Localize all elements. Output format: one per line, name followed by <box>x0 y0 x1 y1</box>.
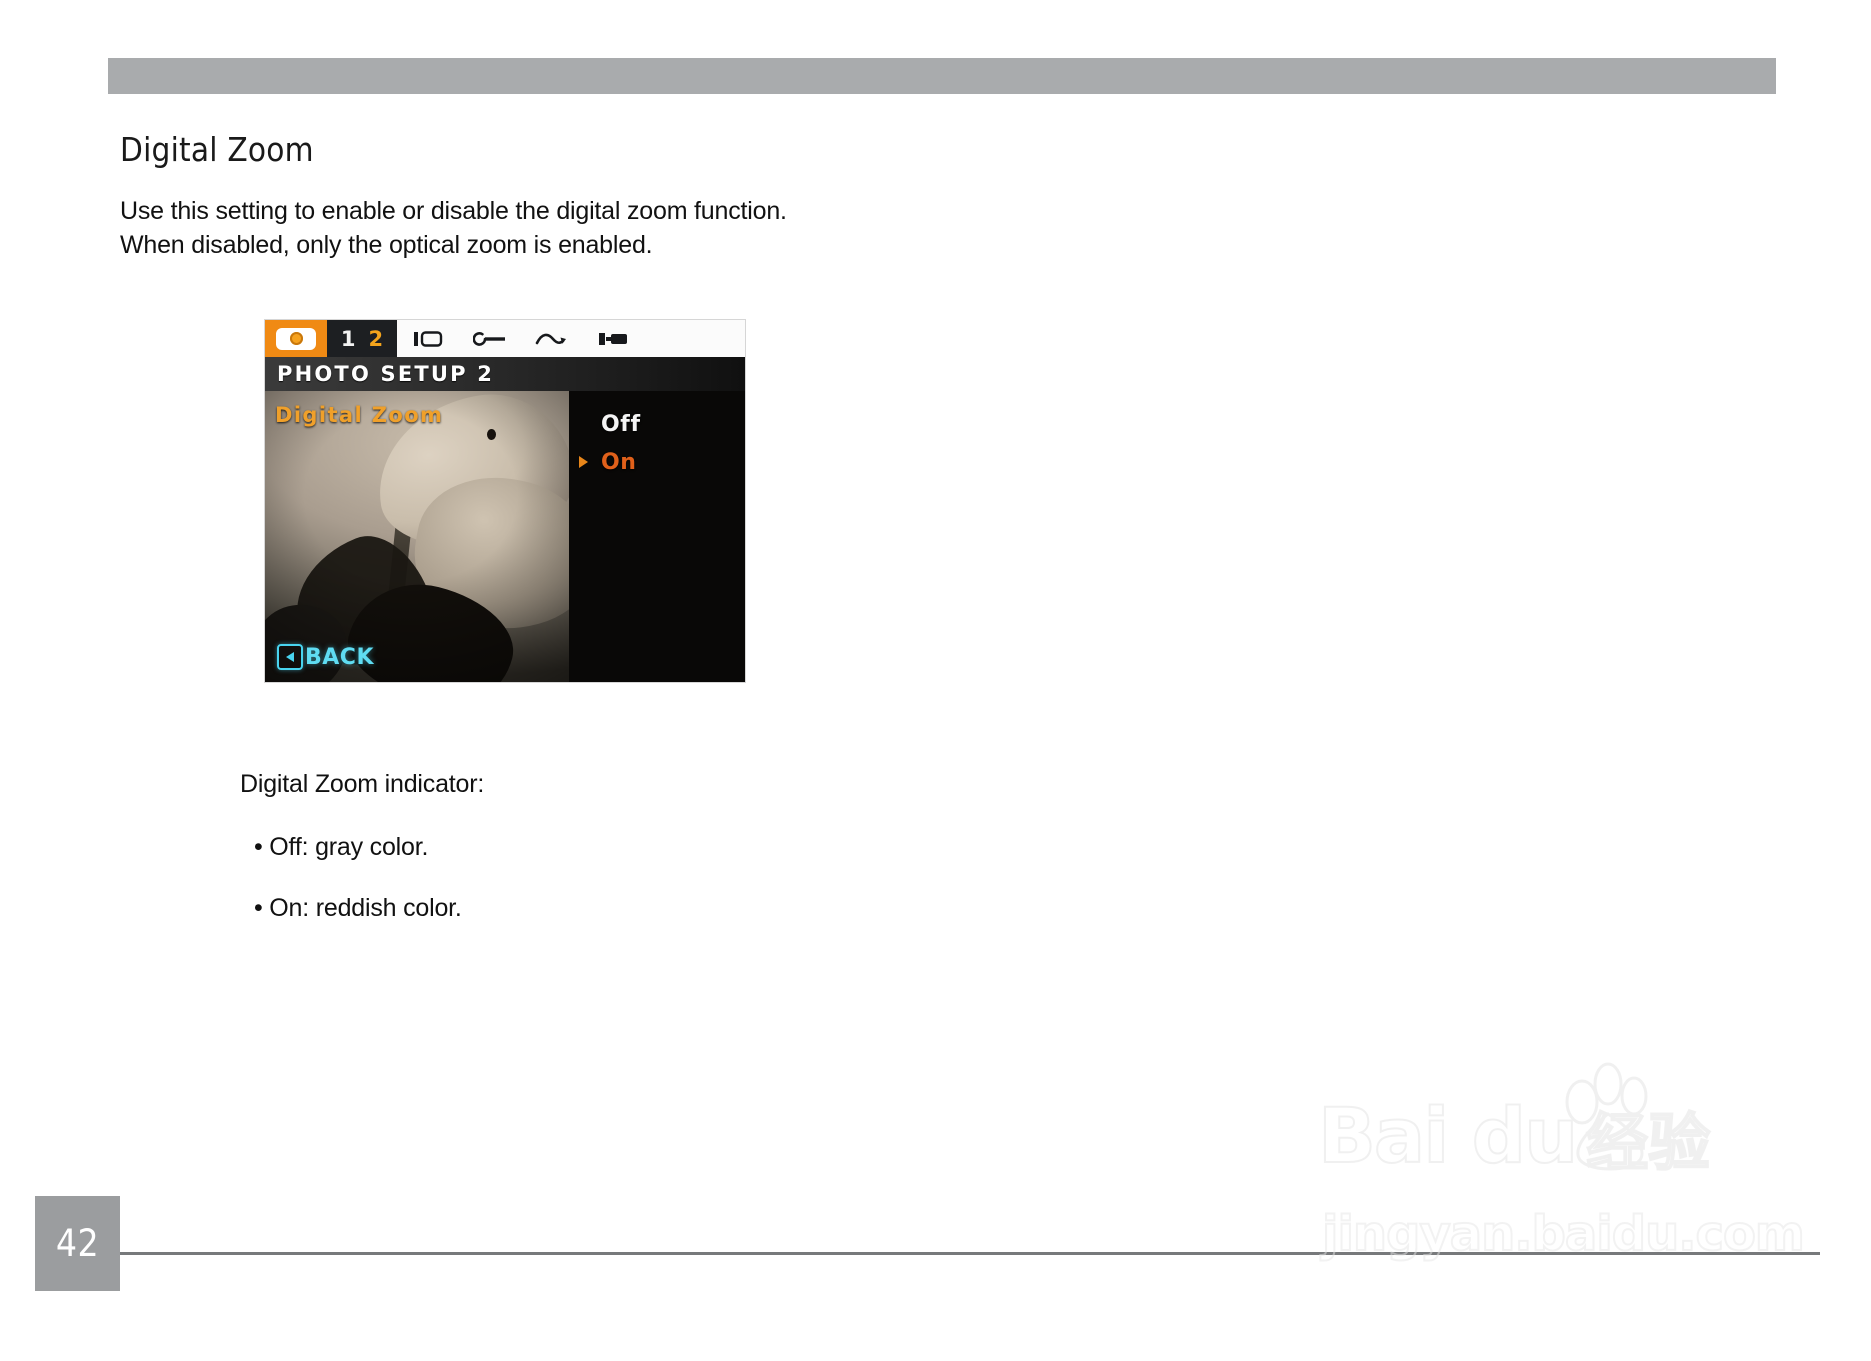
note-bullet-on: • On: reddish color. <box>254 894 1140 923</box>
selection-arrow-icon <box>579 456 595 468</box>
tab-curve[interactable] <box>521 320 583 357</box>
lens-icon <box>290 332 303 345</box>
tab-setup-pages[interactable]: 1 2 <box>327 320 397 357</box>
live-preview: Digital Zoom BACK <box>265 391 569 682</box>
page-number: 42 <box>56 1222 99 1265</box>
page-content: Digital Zoom Use this setting to enable … <box>120 130 1420 262</box>
playback-screen-icon <box>413 330 443 348</box>
option-off[interactable]: Off <box>569 405 745 443</box>
tab-record-mode[interactable] <box>265 320 327 357</box>
intro-line-2: When disabled, only the optical zoom is … <box>120 229 1420 263</box>
menu-tab-bar[interactable]: 1 2 <box>265 320 745 358</box>
watermark-brand-latin: Bai du <box>1318 1098 1576 1174</box>
watermark-brand-cn: 经验 <box>1586 1112 1710 1174</box>
left-arrow-icon <box>277 644 303 670</box>
intro-paragraph: Use this setting to enable or disable th… <box>120 195 1420 262</box>
option-on-label: On <box>601 450 637 475</box>
s-curve-icon <box>535 330 569 348</box>
option-off-label: Off <box>601 412 641 437</box>
tab-playback[interactable] <box>397 320 459 357</box>
footer-rule <box>120 1252 1820 1255</box>
page-header-band <box>108 58 1776 94</box>
baidu-watermark: Bai du 经验 jingyan.baidu.com <box>1318 1098 1798 1268</box>
tab-video[interactable] <box>583 320 645 357</box>
wrench-icon <box>473 330 507 348</box>
camera-icon <box>276 328 316 350</box>
page-number-badge: 42 <box>35 1196 120 1291</box>
menu-body: Digital Zoom BACK Off On <box>265 391 745 682</box>
notes-heading: Digital Zoom indicator: <box>240 770 1140 799</box>
tab-tools[interactable] <box>459 320 521 357</box>
intro-line-1: Use this setting to enable or disable th… <box>120 195 1420 229</box>
tab-page-1[interactable]: 1 <box>341 327 356 351</box>
option-on[interactable]: On <box>569 443 745 481</box>
back-button-label: BACK <box>305 645 374 670</box>
watermark-logo: Bai du 经验 <box>1318 1098 1710 1174</box>
menu-item-label: Digital Zoom <box>275 403 443 427</box>
camera-lcd: 1 2 <box>265 320 745 682</box>
menu-title: PHOTO SETUP 2 <box>277 362 494 386</box>
preview-vignette <box>265 391 569 682</box>
camera-screen-figure: 1 2 <box>265 320 745 682</box>
option-panel: Off On <box>569 391 745 682</box>
paw-print-icon <box>1546 1062 1666 1172</box>
page-title: Digital Zoom <box>120 130 1420 169</box>
tab-page-2[interactable]: 2 <box>369 327 384 351</box>
back-button[interactable]: BACK <box>277 644 374 670</box>
camcorder-icon <box>597 330 631 348</box>
indicator-notes: Digital Zoom indicator: • Off: gray colo… <box>240 770 1140 955</box>
menu-title-bar: PHOTO SETUP 2 <box>265 357 745 391</box>
note-bullet-off: • Off: gray color. <box>254 833 1140 862</box>
